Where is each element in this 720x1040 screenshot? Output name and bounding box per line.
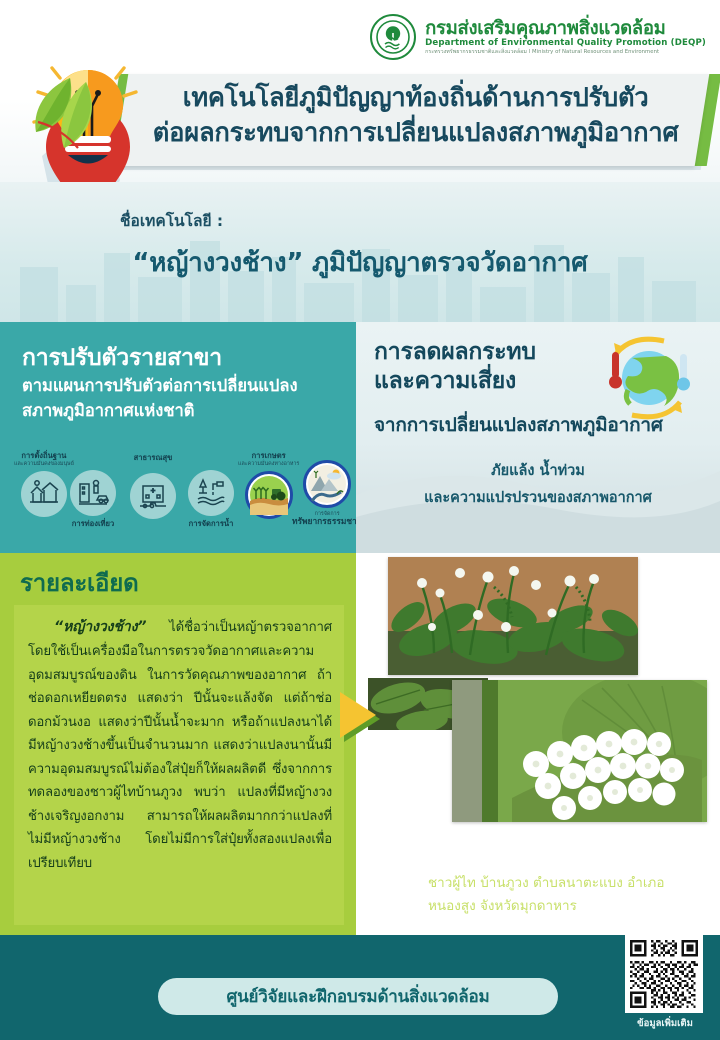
sector-label-settlement: การตั้งถิ่นฐาน xyxy=(14,452,74,461)
mitigation-heading: การลดผลกระทบ และความเสี่ยง xyxy=(374,338,536,397)
sector-item-natural-resources[interactable]: การจัดการ ทรัพยากรธรรมชาติ xyxy=(292,460,362,527)
technology-label: ชื่อเทคโนโลยี : xyxy=(120,208,223,233)
sector-label-water-management: การจัดการน้ำ xyxy=(188,520,234,529)
natural-resource-mountain-icon xyxy=(303,460,351,508)
mitigation-risks: ภัยแล้ง น้ำท่วม และความแปรปรวนของสภาพอาก… xyxy=(356,458,720,512)
sector-sublabel-settlement: และความมั่นคงของมนุษย์ xyxy=(14,461,74,467)
detail-paragraph: “หญ้างวงช้าง” ได้ชื่อว่าเป็นหญ้าตรวจอากา… xyxy=(28,615,332,875)
detail-title: รายละเอียด xyxy=(20,563,139,602)
sector-sublabel-natural-resources: ทรัพยากรธรรมชาติ xyxy=(292,517,362,527)
detail-panel: รายละเอียด “หญ้างวงช้าง” ได้ชื่อว่าเป็นห… xyxy=(0,553,356,935)
play-arrow-right-icon xyxy=(338,690,384,752)
mitigation-heading-line-1: การลดผลกระทบ xyxy=(374,339,536,365)
settlement-houses-icon xyxy=(21,471,67,517)
qr-code-icon[interactable] xyxy=(625,935,703,1013)
poster-title-line-1: เทคโนโลยีภูมิปัญญาท้องถิ่นด้านการปรับตัว xyxy=(144,81,687,116)
mitigation-subheading: จากการเปลี่ยนแปลงสภาพภูมิอากาศ xyxy=(374,410,663,440)
organization-name: ศูนย์วิจัยและฝึกอบรมด้านสิ่งแวดล้อม xyxy=(227,983,490,1010)
sector-sublabel-agriculture: และความมั่นคงทางอาหาร xyxy=(238,461,299,467)
mitigation-panel: การลดผลกระทบ และความเสี่ยง จากการเปลี่ยน… xyxy=(356,322,720,553)
risk-line-2: และความแปรปรวนของสภาพอากาศ xyxy=(424,490,652,506)
deqp-logo: กรมส่งเสริมคุณภาพสิ่งแวดล้อม Department … xyxy=(370,14,706,60)
organization-pill[interactable]: ศูนย์วิจัยและฝึกอบรมด้านสิ่งแวดล้อม xyxy=(158,978,558,1015)
logo-ministry-line: กระทรวงทรัพยากรธรรมชาติและสิ่งแวดล้อม l … xyxy=(425,50,706,56)
qr-caption: ข้อมูลเพิ่มเติม xyxy=(620,1016,710,1031)
tourism-city-car-icon xyxy=(70,470,116,516)
poster-title-line-2: ต่อผลกระทบจากการเปลี่ยนแปลงสภาพภูมิอากาศ xyxy=(144,116,687,151)
adaptation-heading: การปรับตัวรายสาขา xyxy=(22,340,222,376)
location-line-1: ชาวผู้ไท บ้านภูวง ตำบลนาตะแบง อำเภอ xyxy=(428,875,664,891)
deqp-tree-water-seal-icon xyxy=(370,14,416,60)
logo-text-block: กรมส่งเสริมคุณภาพสิ่งแวดล้อม Department … xyxy=(425,19,706,56)
sector-label-tourism: การท่องเที่ยว xyxy=(70,520,116,529)
title-ribbon: เทคโนโลยีภูมิปัญญาท้องถิ่นด้านการปรับตัว… xyxy=(105,74,710,166)
location-text: ชาวผู้ไท บ้านภูวง ตำบลนาตะแบง อำเภอ หนอง… xyxy=(428,872,708,918)
technology-name: “หญ้างวงช้าง” ภูมิปัญญาตรวจวัดอากาศ xyxy=(0,242,720,283)
adaptation-subheading-line-2: สภาพภูมิอากาศแห่งชาติ xyxy=(22,401,195,420)
sector-label-agriculture: การเกษตร xyxy=(238,452,299,461)
mitigation-heading-line-2: และความเสี่ยง xyxy=(374,368,516,394)
adaptation-subheading-line-1: ตามแผนการปรับตัวต่อการเปลี่ยนแปลง xyxy=(22,376,298,395)
water-management-tap-river-icon xyxy=(188,470,234,516)
detail-highlight-term: “หญ้างวงช้าง” xyxy=(54,619,146,635)
agriculture-field-tractor-icon xyxy=(245,471,293,519)
poster-root: กรมส่งเสริมคุณภาพสิ่งแวดล้อม Department … xyxy=(0,0,720,1040)
logo-thai-name: กรมส่งเสริมคุณภาพสิ่งแวดล้อม xyxy=(425,19,706,38)
sector-icon-row: การตั้งถิ่นฐาน และความมั่นคงของมนุษย์ xyxy=(0,452,356,552)
adaptation-subheading: ตามแผนการปรับตัวต่อการเปลี่ยนแปลง สภาพภู… xyxy=(22,374,342,424)
location-line-2: หนองสูง จังหวัดมุกดาหาร xyxy=(428,898,577,914)
sector-item-settlement[interactable]: การตั้งถิ่นฐาน และความมั่นคงของมนุษย์ xyxy=(14,452,74,517)
sector-item-public-health[interactable]: สาธารณสุข xyxy=(130,454,176,519)
sector-label-public-health: สาธารณสุข xyxy=(130,454,176,463)
detail-body: “หญ้างวงช้าง” ได้ชื่อว่าเป็นหญ้าตรวจอากา… xyxy=(14,605,344,925)
logo-english-name: Department of Environmental Quality Prom… xyxy=(425,39,706,48)
heliotropium-plant-wide-photo xyxy=(388,557,638,675)
sector-item-water-management[interactable]: การจัดการน้ำ xyxy=(188,470,234,529)
sector-item-agriculture[interactable]: การเกษตร และความมั่นคงทางอาหาร xyxy=(238,452,299,519)
location-label: สถานที่ : xyxy=(368,875,422,897)
sector-item-tourism[interactable]: การท่องเที่ยว xyxy=(70,470,116,529)
technology-name-band: ชื่อเทคโนโลยี : “หญ้างวงช้าง” ภูมิปัญญาต… xyxy=(0,182,720,322)
public-health-hospital-icon xyxy=(130,473,176,519)
detail-body-text: ได้ชื่อว่าเป็นหญ้าตรวจอากาศ โดยใช้เป็นเค… xyxy=(28,620,332,871)
risk-line-1: ภัยแล้ง น้ำท่วม xyxy=(491,463,585,479)
heliotropium-flower-closeup-photo xyxy=(452,680,707,822)
header: กรมส่งเสริมคุณภาพสิ่งแวดล้อม Department … xyxy=(0,0,720,182)
